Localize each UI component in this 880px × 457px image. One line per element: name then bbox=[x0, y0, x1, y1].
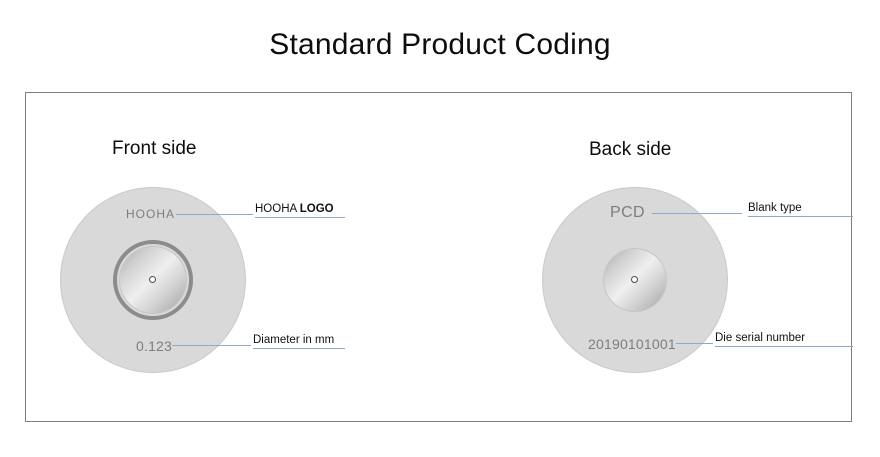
leader-line-hooha-logo bbox=[176, 214, 253, 215]
page-title: Standard Product Coding bbox=[0, 28, 880, 62]
panel-heading-front: Front side bbox=[112, 138, 196, 160]
panel-heading-back: Back side bbox=[589, 139, 671, 161]
leader-line-blank-type bbox=[652, 213, 742, 214]
back-center-pin-icon bbox=[632, 277, 637, 282]
callout-hooha-logo-emphasis: LOGO bbox=[300, 203, 334, 215]
callout-diameter-in-mm: Diameter in mm bbox=[253, 334, 345, 349]
callout-blank-type: Blank type bbox=[748, 202, 853, 217]
callout-die-serial-number: Die serial number bbox=[715, 332, 853, 347]
front-disc-logo-marking: HOOHA bbox=[126, 207, 175, 221]
callout-hooha-logo-lead: HOOHA bbox=[255, 203, 300, 215]
front-center-pin-icon bbox=[150, 277, 155, 282]
leader-line-diameter bbox=[172, 345, 251, 346]
leader-line-die-serial-number bbox=[676, 343, 713, 344]
callout-hooha-logo: HOOHA LOGO bbox=[255, 203, 345, 218]
front-disc-diameter-marking: 0.123 bbox=[136, 338, 172, 354]
back-disc-serial-marking: 20190101001 bbox=[588, 336, 676, 352]
back-disc-blank-type-marking: PCD bbox=[610, 204, 645, 222]
slide-canvas: Standard Product Coding Front side HOOHA… bbox=[0, 0, 880, 457]
